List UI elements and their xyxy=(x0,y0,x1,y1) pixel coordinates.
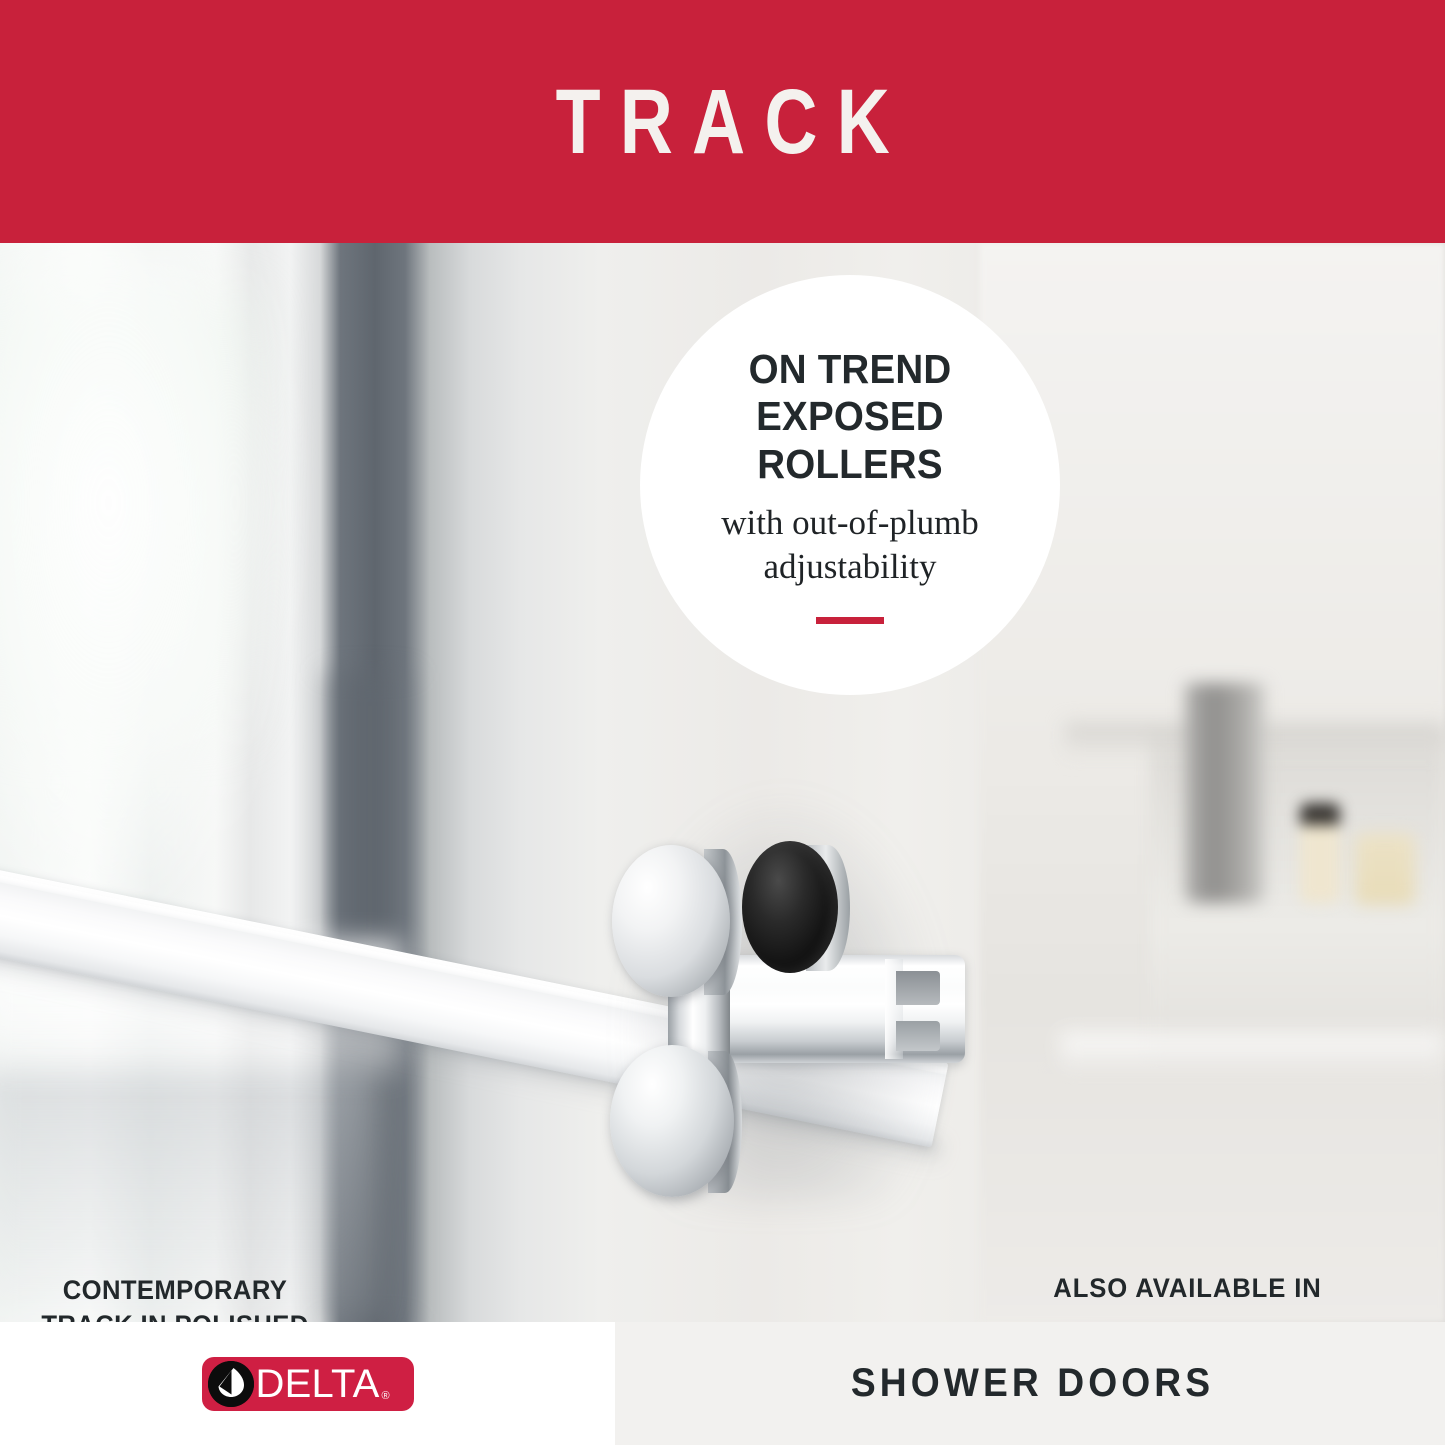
callout-subhead-line-2: adjustability xyxy=(721,545,979,590)
background-counter xyxy=(1060,1033,1445,1073)
track-channel-slot-upper xyxy=(896,971,940,1005)
product-caption-line-1: CONTEMPORARY xyxy=(28,1273,323,1308)
marketing-slide: TRACK xyxy=(0,0,1445,1445)
footer-tagline: SHOWER DOORS xyxy=(846,1361,1213,1406)
footer-brand-panel: DELTA ® xyxy=(0,1322,615,1445)
header-banner: TRACK xyxy=(0,0,1445,243)
delta-wordmark: DELTA xyxy=(256,1364,380,1404)
background-bottle-a xyxy=(1300,803,1340,903)
background-bottle-b xyxy=(1355,833,1415,905)
footer-tagline-panel: SHOWER DOORS xyxy=(615,1322,1445,1445)
delta-registered-mark: ® xyxy=(382,1390,390,1402)
lower-chrome-disc xyxy=(610,1045,734,1197)
callout-subhead-line-1: with out-of-plumb xyxy=(721,501,979,546)
roller-wheel-black xyxy=(742,841,838,973)
background-window-glow xyxy=(0,243,290,923)
callout-accent-rule xyxy=(816,617,884,624)
product-photo: ON TREND EXPOSED ROLLERS with out-of-plu… xyxy=(0,243,1445,1322)
callout-headline: ON TREND EXPOSED ROLLERS xyxy=(685,346,1016,489)
track-channel-slot-lower xyxy=(896,1021,940,1051)
footer: DELTA ® SHOWER DOORS xyxy=(0,1322,1445,1445)
roller-assembly xyxy=(600,763,980,1213)
callout-headline-line-1: ON TREND xyxy=(685,346,1016,394)
finish-options-panel: ALSO AVAILABLE IN BRUSHED NICKEL BRONZE … xyxy=(960,1273,1415,1322)
delta-logo[interactable]: DELTA ® xyxy=(202,1357,414,1411)
page-title: TRACK xyxy=(536,76,908,168)
background-vessel xyxy=(1185,683,1265,903)
upper-chrome-disc xyxy=(612,845,730,997)
product-caption: CONTEMPORARY TRACK IN POLISHED CHROME xyxy=(28,1273,323,1322)
product-caption-line-2: TRACK IN POLISHED xyxy=(28,1308,323,1322)
feature-callout: ON TREND EXPOSED ROLLERS with out-of-plu… xyxy=(640,275,1060,695)
finish-options-title: ALSO AVAILABLE IN xyxy=(971,1273,1403,1304)
callout-subhead: with out-of-plumb adjustability xyxy=(721,501,979,591)
delta-triangle-icon xyxy=(208,1361,254,1407)
callout-headline-line-2: EXPOSED ROLLERS xyxy=(685,393,1016,488)
